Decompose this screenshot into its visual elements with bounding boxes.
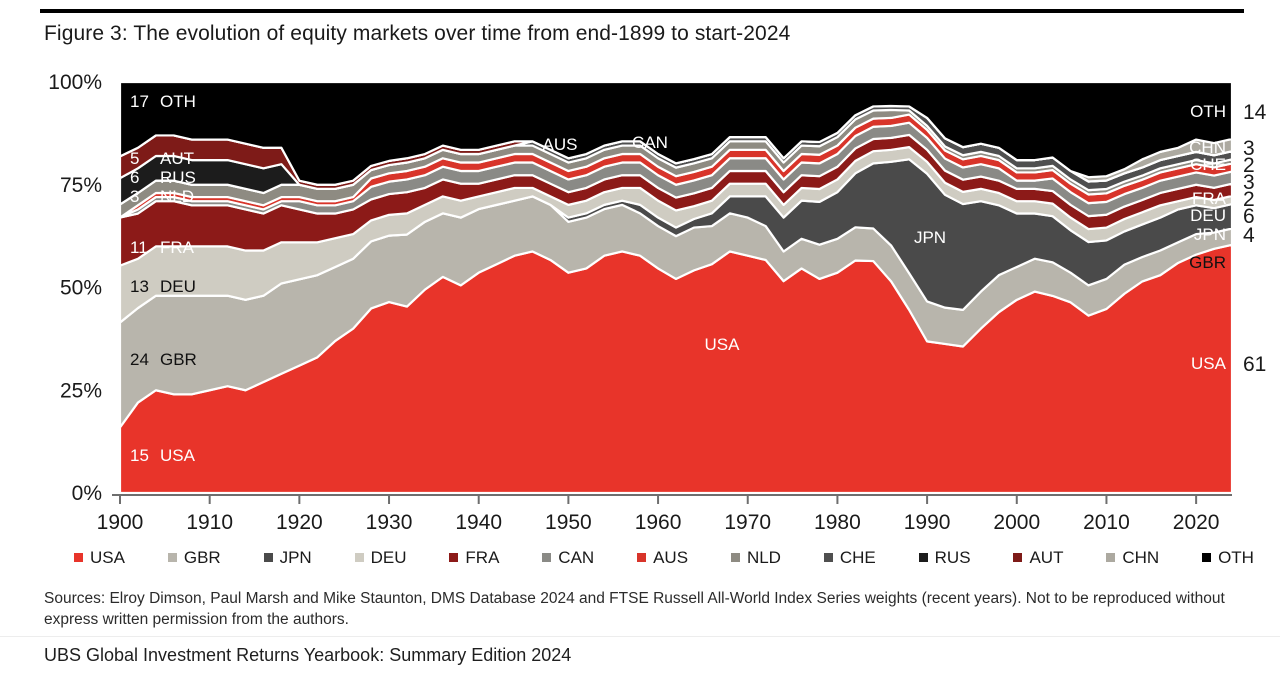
legend-swatch-icon: [1202, 553, 1211, 562]
x-axis-tick-label: 2020: [1173, 511, 1220, 534]
legend-item-aus[interactable]: AUS: [637, 549, 688, 566]
x-axis-tick-label: 1900: [97, 511, 144, 534]
chart-axes-group: [112, 495, 1232, 504]
legend-swatch-icon: [449, 553, 458, 562]
x-axis-tick-label: 1960: [635, 511, 682, 534]
legend-item-rus[interactable]: RUS: [919, 549, 971, 566]
right-annotation-value-oth: 14: [1243, 101, 1267, 124]
footer-divider-rule: [0, 636, 1280, 637]
right-annotation-label-usa: USA: [1191, 354, 1227, 373]
left-annotation-label-oth: OTH: [160, 92, 196, 111]
legend-item-label: RUS: [935, 549, 971, 566]
legend-item-deu[interactable]: DEU: [355, 549, 407, 566]
legend-swatch-icon: [264, 553, 273, 562]
y-axis-tick-label: 75%: [60, 174, 102, 197]
left-annotation-label-usa: USA: [160, 446, 196, 465]
left-annotation-value-nld: 3: [130, 187, 139, 206]
left-annotation-label-nld: NLD: [160, 187, 194, 206]
left-annotation-label-rus: RUS: [160, 168, 196, 187]
legend-item-nld[interactable]: NLD: [731, 549, 781, 566]
x-axis-tick-label: 2000: [993, 511, 1040, 534]
legend-swatch-icon: [637, 553, 646, 562]
x-axis-tick-label: 2010: [1083, 511, 1130, 534]
left-annotation-label-fra: FRA: [160, 238, 195, 257]
legend-swatch-icon: [355, 553, 364, 562]
legend-item-fra[interactable]: FRA: [449, 549, 499, 566]
figure-page: Figure 3: The evolution of equity market…: [0, 0, 1280, 678]
legend-item-label: CAN: [558, 549, 594, 566]
legend-swatch-icon: [542, 553, 551, 562]
legend-item-label: JPN: [280, 549, 312, 566]
x-axis-tick-label: 1970: [724, 511, 771, 534]
legend-item-che[interactable]: CHE: [824, 549, 876, 566]
legend-item-can[interactable]: CAN: [542, 549, 594, 566]
legend-item-label: CHE: [840, 549, 876, 566]
y-axis-tick-label: 25%: [60, 379, 102, 402]
left-annotation-value-gbr: 24: [130, 350, 149, 369]
publication-footer: UBS Global Investment Returns Yearbook: …: [44, 645, 1244, 666]
chart-legend: USAGBRJPNDEUFRACANAUSNLDCHERUSAUTCHNOTH: [74, 546, 1254, 568]
left-annotation-value-rus: 6: [130, 168, 139, 187]
chart-area-series-group: [120, 82, 1232, 493]
left-annotation-value-deu: 13: [130, 277, 149, 296]
legend-item-label: AUS: [653, 549, 688, 566]
legend-item-label: FRA: [465, 549, 499, 566]
left-annotation-value-aut: 5: [130, 149, 139, 168]
legend-swatch-icon: [731, 553, 740, 562]
x-axis-tick-label: 1950: [545, 511, 592, 534]
legend-item-gbr[interactable]: GBR: [168, 549, 221, 566]
legend-item-label: CHN: [1122, 549, 1159, 566]
y-axis-tick-label: 50%: [60, 277, 102, 300]
y-axis-tick-label: 0%: [72, 482, 102, 505]
legend-swatch-icon: [919, 553, 928, 562]
chart-container: 0%25%50%75%100% 190019101920193019401950…: [0, 62, 1280, 542]
right-annotation-label-gbr: GBR: [1189, 253, 1226, 272]
legend-item-label: NLD: [747, 549, 781, 566]
legend-item-aut[interactable]: AUT: [1013, 549, 1063, 566]
chart-label-can: CAN: [632, 133, 668, 152]
right-annotation-label-jpn: JPN: [1194, 225, 1226, 244]
x-axis-tick-labels: 1900191019201930194019501960197019801990…: [97, 511, 1220, 534]
x-axis-tick-label: 1940: [455, 511, 502, 534]
chart-label-usa: USA: [705, 335, 741, 354]
legend-item-jpn[interactable]: JPN: [264, 549, 312, 566]
legend-swatch-icon: [1106, 553, 1115, 562]
left-annotation-value-fra: 11: [130, 238, 148, 257]
left-annotation-label-gbr: GBR: [160, 350, 197, 369]
right-annotation-label-oth: OTH: [1190, 102, 1226, 121]
figure-title: Figure 3: The evolution of equity market…: [44, 22, 1224, 46]
left-annotation-value-oth: 17: [130, 92, 149, 111]
x-axis-tick-label: 1930: [366, 511, 413, 534]
legend-item-label: OTH: [1218, 549, 1254, 566]
legend-item-label: GBR: [184, 549, 221, 566]
right-annotation-label-deu: DEU: [1190, 206, 1226, 225]
legend-swatch-icon: [168, 553, 177, 562]
legend-item-label: USA: [90, 549, 125, 566]
legend-swatch-icon: [74, 553, 83, 562]
left-annotation-label-aut: AUT: [160, 149, 194, 168]
x-axis-tick-label: 1910: [186, 511, 233, 534]
right-annotation-value-jpn: 4: [1243, 224, 1255, 247]
right-annotation-label-che: CHE: [1190, 155, 1226, 174]
right-annotation-value-usa: 61: [1243, 353, 1266, 376]
legend-item-label: AUT: [1029, 549, 1063, 566]
legend-item-label: DEU: [371, 549, 407, 566]
sources-note: Sources: Elroy Dimson, Paul Marsh and Mi…: [44, 588, 1244, 631]
x-axis-tick-label: 1990: [904, 511, 951, 534]
y-axis-tick-label: 100%: [48, 71, 102, 94]
legend-item-chn[interactable]: CHN: [1106, 549, 1159, 566]
chart-label-aus: AUS: [543, 135, 578, 154]
x-axis-tick-label: 1920: [276, 511, 323, 534]
y-axis-tick-labels: 0%25%50%75%100%: [48, 71, 102, 505]
top-divider-rule: [40, 9, 1244, 13]
legend-item-oth[interactable]: OTH: [1202, 549, 1254, 566]
left-annotation-value-usa: 15: [130, 446, 149, 465]
x-axis-tick-label: 1980: [814, 511, 861, 534]
chart-label-jpn: JPN: [914, 228, 946, 247]
stacked-area-chart: 0%25%50%75%100% 190019101920193019401950…: [0, 62, 1280, 542]
legend-swatch-icon: [824, 553, 833, 562]
legend-item-usa[interactable]: USA: [74, 549, 125, 566]
legend-swatch-icon: [1013, 553, 1022, 562]
left-annotation-label-deu: DEU: [160, 277, 196, 296]
